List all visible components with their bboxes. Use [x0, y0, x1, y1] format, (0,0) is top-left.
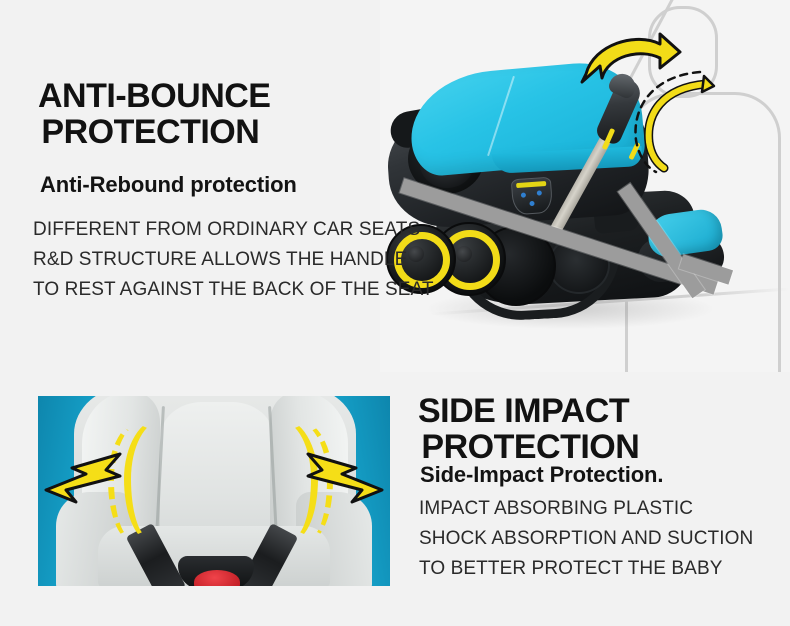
impact-arrow-left-icon	[42, 446, 124, 508]
anti-bounce-subheading: Anti-Rebound protection	[40, 172, 297, 198]
product-photo-stroller	[380, 0, 790, 372]
anti-bounce-headline: ANTI-BOUNCEPROTECTION	[38, 78, 270, 150]
headline-line-1: SIDE IMPACT	[418, 392, 629, 430]
body-line: IMPACT ABSORBING PLASTIC	[419, 494, 753, 524]
body-line: DIFFERENT FROM ORDINARY CAR SEATS	[33, 215, 434, 245]
anti-bounce-body: DIFFERENT FROM ORDINARY CAR SEATS R&D ST…	[33, 215, 434, 305]
body-line: R&D STRUCTURE ALLOWS THE HANDLE	[33, 245, 434, 275]
handle-rotation-arc-arrow-icon	[618, 58, 718, 178]
body-line: TO REST AGAINST THE BACK OF THE SEAT	[33, 275, 434, 305]
headline-line-2: PROTECTION	[38, 114, 270, 150]
body-line: SHOCK ABSORPTION AND SUCTION	[419, 524, 753, 554]
side-impact-headline: SIDE IMPACTPROTECTION	[418, 393, 639, 465]
badge-dot	[529, 201, 534, 206]
front-wheel-hub	[456, 246, 472, 262]
headline-line-1: ANTI-BOUNCE	[38, 77, 270, 115]
side-impact-subheading: Side-Impact Protection.	[420, 462, 663, 488]
headline-line-2: PROTECTION	[418, 429, 639, 465]
side-impact-body: IMPACT ABSORBING PLASTIC SHOCK ABSORPTIO…	[419, 494, 753, 584]
marketing-infographic-page: ANTI-BOUNCEPROTECTION Anti-Rebound prote…	[0, 0, 790, 626]
body-line: TO BETTER PROTECT THE BABY	[419, 554, 753, 584]
absorption-curve-solid-left	[124, 418, 186, 540]
badge-dot	[537, 190, 542, 195]
badge-yellow-band	[516, 181, 546, 188]
product-badge	[511, 177, 553, 216]
badge-dot	[521, 192, 526, 197]
impact-arrow-right-icon	[304, 446, 386, 508]
product-photo-seat-interior	[38, 396, 390, 586]
